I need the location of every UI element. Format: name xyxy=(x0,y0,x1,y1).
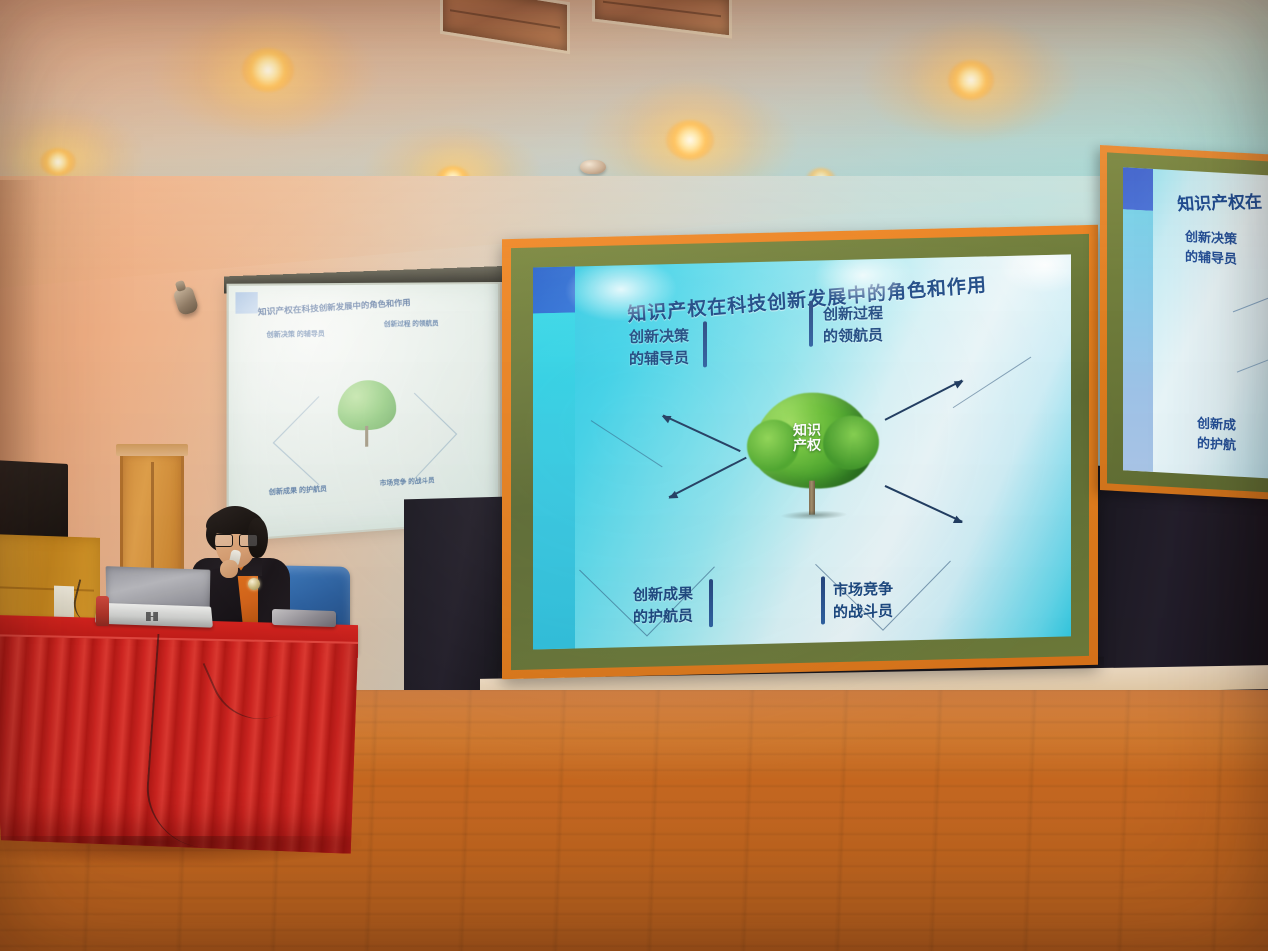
ceiling-light-1 xyxy=(242,48,294,92)
slide-label-top-left-line1: 创新决策 xyxy=(629,326,689,349)
slide-label-top-right: 创新过程 的领航员 xyxy=(823,303,883,348)
right-slide-line-1 xyxy=(1233,287,1268,313)
ceiling-light-4 xyxy=(40,148,76,176)
ceiling-light-2 xyxy=(666,120,714,160)
main-led-screen: 知识产权在科技创新发展中的角色和作用 创新决策 的辅导员 创新过程 的领航员 创… xyxy=(502,225,1098,680)
right-slide-label-top-left-line1: 创新决策 xyxy=(1185,227,1237,249)
left-slide-label-bottom-left: 创新成果 的护航员 xyxy=(269,484,327,499)
slide-arrow-upper-right xyxy=(885,379,963,420)
desk-equipment xyxy=(272,609,336,627)
right-led-screen: 知识产权在 创新决策 的辅导员 创新成 的护航 xyxy=(1100,145,1268,500)
right-slide-label-top-left: 创新决策 的辅导员 xyxy=(1185,227,1237,269)
slide-arrow-lower-left xyxy=(669,457,747,498)
conference-hall-photo: 知识产权在科技创新发展中的角色和作用 创新决策 的辅导员 创新过程 的领航员 创… xyxy=(0,0,1268,951)
right-slide-label-top-left-line2: 的辅导员 xyxy=(1185,246,1237,268)
tree-shadow xyxy=(781,510,847,521)
slide-label-top-right-line2: 的领航员 xyxy=(823,325,883,348)
slide-label-top-left: 创新决策 的辅导员 xyxy=(629,326,689,371)
left-slide-label-top-right: 创新过程 的领航员 xyxy=(384,319,439,331)
glasses-icon xyxy=(214,534,258,545)
slide-side-strip xyxy=(533,312,575,649)
slide-guide-line-1 xyxy=(591,420,663,467)
slide-tree-graphic: 知识 产权 xyxy=(745,391,881,530)
presenter-brooch-icon xyxy=(248,578,260,590)
right-slide-side-strip xyxy=(1123,209,1153,472)
slide-label-bar-bottom-right xyxy=(821,576,825,624)
slide-corner-block xyxy=(533,266,575,313)
left-slide-tree-trunk xyxy=(365,426,368,447)
podium-monitor xyxy=(0,460,68,544)
right-slide-label-bottom-left: 创新成 的护航 xyxy=(1197,413,1236,454)
slide-label-top-right-line1: 创新过程 xyxy=(823,303,883,326)
slide-arrow-upper-left xyxy=(663,414,741,452)
slide-label-bar-top-right xyxy=(809,301,813,347)
tree-center-text: 知识 产权 xyxy=(775,422,839,453)
slide-chevron-left xyxy=(579,501,715,637)
led-inner-frame: 知识产权在科技创新发展中的角色和作用 创新决策 的辅导员 创新过程 的领航员 创… xyxy=(511,234,1089,670)
left-slide-label-top-left: 创新决策 的辅导员 xyxy=(267,329,325,341)
podium-paper xyxy=(54,586,74,621)
led-display-surface: 知识产权在科技创新发展中的角色和作用 创新决策 的辅导员 创新过程 的领航员 创… xyxy=(533,254,1071,649)
left-slide-label-bottom-right: 市场竞争 的战斗员 xyxy=(380,476,435,490)
right-slide-corner-block xyxy=(1123,167,1153,211)
right-slide-label-bottom-left-line2: 的护航 xyxy=(1197,433,1236,455)
ceiling-light-3 xyxy=(948,60,994,100)
slide-label-top-left-line2: 的辅导员 xyxy=(629,347,689,370)
desk-bottle xyxy=(96,596,109,626)
left-slide-corner-block xyxy=(235,292,257,314)
right-slide-title: 知识产权在 xyxy=(1176,187,1263,215)
smoke-detector xyxy=(580,160,606,174)
tree-center-line2: 产权 xyxy=(775,437,839,453)
left-slide-title: 知识产权在科技创新发展中的角色和作用 xyxy=(258,293,477,318)
right-slide-label-bottom-left-line1: 创新成 xyxy=(1197,413,1236,435)
slide-label-bar-top-left xyxy=(703,321,707,367)
slide-label-bar-bottom-left xyxy=(709,579,713,627)
right-screen-surface: 知识产权在 创新决策 的辅导员 创新成 的护航 xyxy=(1123,167,1268,478)
right-slide-line-2 xyxy=(1237,347,1268,373)
presenter-hand xyxy=(220,560,238,578)
wall-door-header xyxy=(116,444,188,456)
right-screen-inner-frame: 知识产权在 创新决策 的辅导员 创新成 的护航 xyxy=(1107,152,1268,492)
